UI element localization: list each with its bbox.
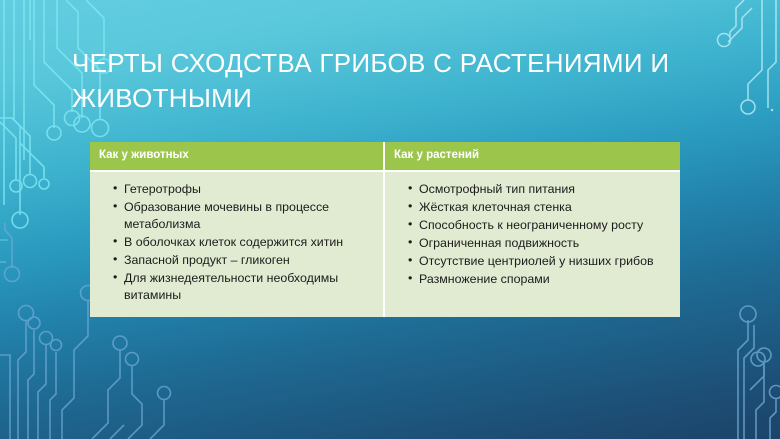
list-item: Способность к неограниченному росту: [408, 217, 670, 234]
list-item: Запасной продукт – гликоген: [113, 252, 373, 269]
list-item: Жёсткая клеточная стенка: [408, 199, 670, 216]
table-body-row: Гетеротрофы Образование мочевины в проце…: [90, 170, 680, 318]
list-item: Образование мочевины в процессе метаболи…: [113, 199, 373, 233]
cell-animals-traits: Гетеротрофы Образование мочевины в проце…: [90, 170, 385, 318]
cell-plants-traits: Осмотрофный тип питания Жёсткая клеточна…: [385, 170, 680, 318]
comparison-table: Как у животных Как у растений Гетеротроф…: [90, 142, 680, 317]
column-header-plants: Как у растений: [385, 142, 680, 170]
column-header-animals: Как у животных: [90, 142, 385, 170]
plant-traits-list: Осмотрофный тип питания Жёсткая клеточна…: [391, 181, 670, 289]
list-item: Гетеротрофы: [113, 181, 373, 198]
list-item: Ограниченная подвижность: [408, 235, 670, 252]
list-item: Для жизнедеятельности необходимы витамин…: [113, 270, 373, 304]
page-title: Черты сходства грибов с растениями и жив…: [72, 46, 732, 115]
list-item: Отсутствие центриолей у низших грибов: [408, 253, 670, 270]
table-header-row: Как у животных Как у растений: [90, 142, 680, 170]
animal-traits-list: Гетеротрофы Образование мочевины в проце…: [96, 181, 373, 305]
list-item: В оболочках клеток содержится хитин: [113, 234, 373, 251]
list-item: Осмотрофный тип питания: [408, 181, 670, 198]
slide-canvas: Черты сходства грибов с растениями и жив…: [0, 0, 780, 439]
list-item: Размножение спорами: [408, 271, 670, 288]
